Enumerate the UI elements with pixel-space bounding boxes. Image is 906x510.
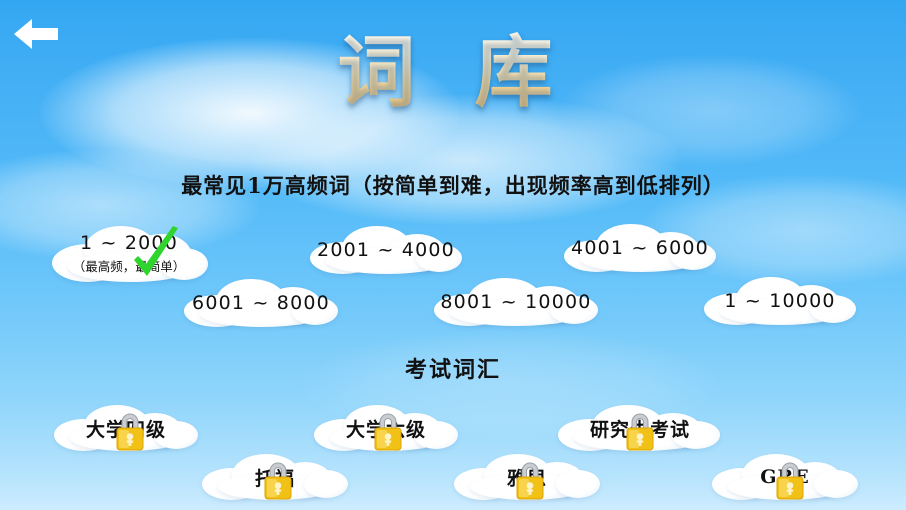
range-cloud-label: 8001 ~ 10000 [440, 291, 591, 313]
page-title: 词 库 [0, 30, 906, 116]
exam-cloud-cet6[interactable]: 大学六级 [312, 403, 460, 453]
subtitle-text: 最常见1万高频词（按简单到难，出现频率高到低排列） [0, 170, 906, 200]
exam-cloud-label: 托福 [255, 464, 295, 491]
range-cloud-label: 4001 ~ 6000 [571, 237, 709, 259]
range-cloud-2001-4000[interactable]: 2001 ~ 4000 [306, 224, 466, 276]
exam-cloud-gre[interactable]: GRE [710, 452, 860, 502]
range-cloud-label: 6001 ~ 8000 [192, 292, 330, 314]
exam-cloud-label: 研究生考试 [590, 415, 690, 442]
exam-cloud-cet4[interactable]: 大学四级 [52, 403, 200, 453]
exam-cloud-toefl[interactable]: 托福 [200, 452, 350, 502]
exam-cloud-label: GRE [760, 466, 810, 488]
exam-cloud-label: 雅思 [507, 464, 547, 491]
exam-cloud-label: 大学四级 [86, 415, 166, 442]
range-cloud-label: 1 ~ 10000 [724, 290, 835, 312]
range-cloud-8001-10000[interactable]: 8001 ~ 10000 [430, 276, 602, 328]
wordbank-screen: 词 库 最常见1万高频词（按简单到难，出现频率高到低排列） 1 ~ 2000 （… [0, 0, 906, 510]
range-cloud-label: 1 ~ 2000 [80, 232, 178, 254]
range-cloud-6001-8000[interactable]: 6001 ~ 8000 [180, 277, 342, 329]
range-cloud-1-10000[interactable]: 1 ~ 10000 [700, 275, 860, 327]
exam-cloud-label: 大学六级 [346, 415, 426, 442]
range-cloud-label: 2001 ~ 4000 [317, 239, 455, 261]
range-cloud-sublabel: （最高频，最简单） [73, 256, 186, 275]
exam-section-heading: 考试词汇 [0, 352, 906, 384]
range-cloud-4001-6000[interactable]: 4001 ~ 6000 [560, 222, 720, 274]
exam-cloud-ielts[interactable]: 雅思 [452, 452, 602, 502]
exam-cloud-postgraduate[interactable]: 研究生考试 [556, 403, 724, 453]
range-cloud-1-2000[interactable]: 1 ~ 2000 （最高频，最简单） [46, 222, 212, 284]
